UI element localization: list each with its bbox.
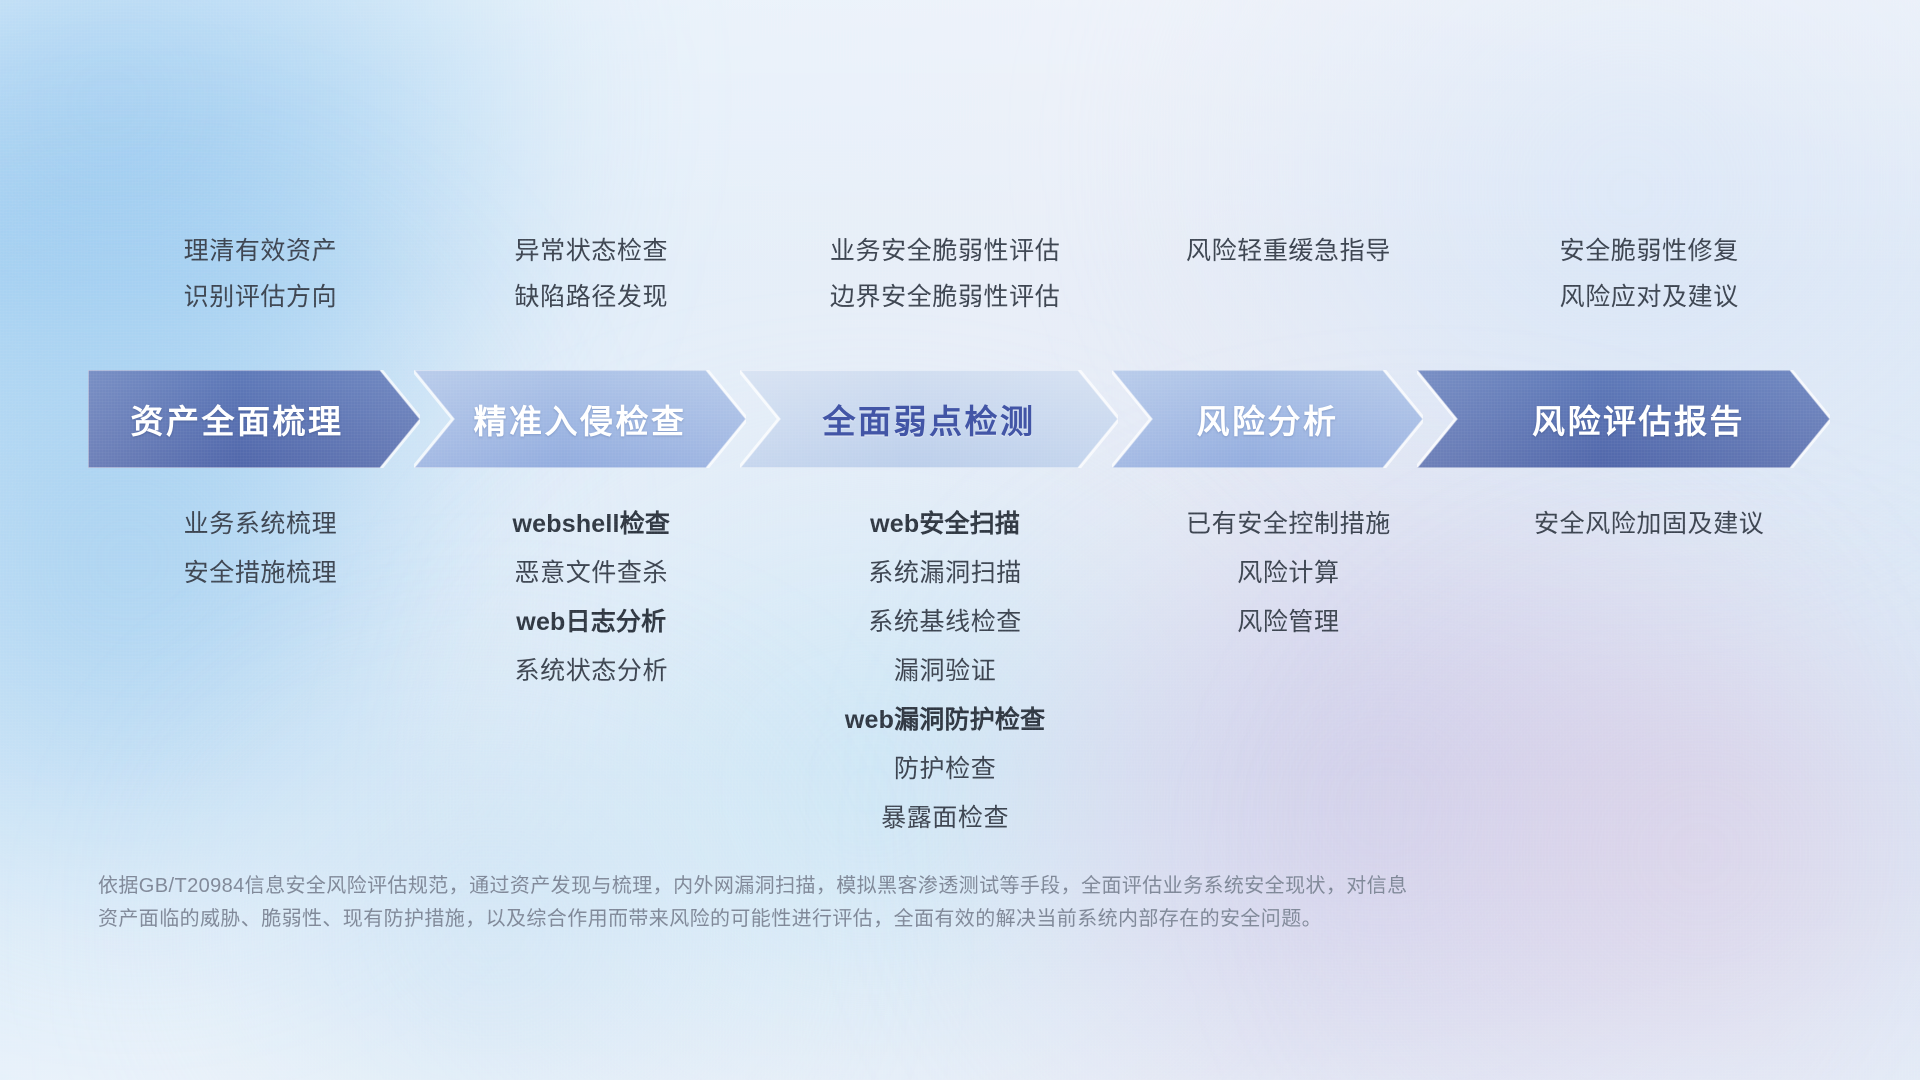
process-step-title: 资产全面梳理 — [88, 395, 420, 443]
stage-top-note: 边界安全脆弱性评估 — [830, 274, 1060, 320]
stage-item[interactable]: 系统基线检查 — [868, 598, 1022, 647]
footer-line-1: 依据GB/T20984信息安全风险评估规范，通过资产发现与梳理，内外网漏洞扫描，… — [98, 870, 1638, 903]
stage-item[interactable]: 系统状态分析 — [515, 647, 669, 696]
stage-top-note: 缺陷路径发现 — [515, 274, 669, 320]
stage-top-note: 风险轻重缓急指导 — [1186, 228, 1391, 274]
stage-item[interactable]: 防护检查 — [894, 745, 996, 794]
process-step-1[interactable]: 资产全面梳理 — [88, 370, 420, 468]
footer-description: 依据GB/T20984信息安全风险评估规范，通过资产发现与梳理，内外网漏洞扫描，… — [98, 870, 1638, 936]
stage-items-3: web安全扫描系统漏洞扫描系统基线检查漏洞验证web漏洞防护检查防护检查暴露面检… — [757, 500, 1134, 843]
stage-items-row: 业务系统梳理安全措施梳理webshell检查恶意文件查杀web日志分析系统状态分… — [95, 500, 1855, 843]
stage-top-notes-5: 安全脆弱性修复风险应对及建议 — [1443, 228, 1855, 338]
stage-top-note: 异常状态检查 — [515, 228, 669, 274]
stage-items-4: 已有安全控制措施风险计算风险管理 — [1133, 500, 1443, 647]
process-step-4[interactable]: 风险分析 — [1112, 370, 1423, 468]
stage-item[interactable]: 系统漏洞扫描 — [868, 549, 1022, 598]
stage-item[interactable]: 业务系统梳理 — [184, 500, 338, 549]
stage-item[interactable]: 风险计算 — [1237, 549, 1339, 598]
stage-top-note: 理清有效资产 — [184, 228, 338, 274]
stage-item[interactable]: 恶意文件查杀 — [515, 549, 669, 598]
stage-top-notes-1: 理清有效资产识别评估方向 — [95, 228, 426, 338]
process-step-title: 全面弱点检测 — [740, 395, 1118, 443]
diagram-content: 理清有效资产识别评估方向异常状态检查缺陷路径发现业务安全脆弱性评估边界安全脆弱性… — [0, 0, 1920, 1080]
stage-item[interactable]: web漏洞防护检查 — [845, 696, 1045, 745]
stage-top-notes-3: 业务安全脆弱性评估边界安全脆弱性评估 — [757, 228, 1134, 338]
stage-item[interactable]: webshell检查 — [513, 500, 671, 549]
process-chevron-band: 资产全面梳理精准入侵检查全面弱点检测风险分析风险评估报告 — [88, 370, 1854, 468]
process-step-3[interactable]: 全面弱点检测 — [740, 370, 1118, 468]
process-step-title: 风险分析 — [1112, 395, 1423, 443]
process-step-title: 风险评估报告 — [1417, 395, 1830, 443]
process-step-5[interactable]: 风险评估报告 — [1417, 370, 1830, 468]
process-step-title: 精准入侵检查 — [414, 395, 746, 443]
process-step-2[interactable]: 精准入侵检查 — [414, 370, 746, 468]
stage-item[interactable]: 安全措施梳理 — [184, 549, 338, 598]
stage-item[interactable]: web日志分析 — [516, 598, 666, 647]
stage-items-2: webshell检查恶意文件查杀web日志分析系统状态分析 — [426, 500, 757, 696]
footer-line-2: 资产面临的威胁、脆弱性、现有防护措施，以及综合作用而带来风险的可能性进行评估，全… — [98, 903, 1638, 936]
stage-top-notes-4: 风险轻重缓急指导 — [1133, 228, 1443, 338]
stage-top-note: 安全脆弱性修复 — [1560, 228, 1739, 274]
stage-top-note: 识别评估方向 — [184, 274, 338, 320]
stage-top-note: 业务安全脆弱性评估 — [830, 228, 1060, 274]
stage-item[interactable]: web安全扫描 — [870, 500, 1020, 549]
stage-top-notes-2: 异常状态检查缺陷路径发现 — [426, 228, 757, 338]
stage-item[interactable]: 风险管理 — [1237, 598, 1339, 647]
stage-items-1: 业务系统梳理安全措施梳理 — [95, 500, 426, 598]
stage-item[interactable]: 已有安全控制措施 — [1186, 500, 1391, 549]
stage-top-notes-row: 理清有效资产识别评估方向异常状态检查缺陷路径发现业务安全脆弱性评估边界安全脆弱性… — [95, 228, 1855, 338]
stage-item[interactable]: 暴露面检查 — [881, 794, 1009, 843]
stage-items-5: 安全风险加固及建议 — [1443, 500, 1855, 549]
stage-top-note: 风险应对及建议 — [1560, 274, 1739, 320]
stage-item[interactable]: 安全风险加固及建议 — [1534, 500, 1764, 549]
stage-item[interactable]: 漏洞验证 — [894, 647, 996, 696]
infographic-canvas: 理清有效资产识别评估方向异常状态检查缺陷路径发现业务安全脆弱性评估边界安全脆弱性… — [0, 0, 1920, 1080]
